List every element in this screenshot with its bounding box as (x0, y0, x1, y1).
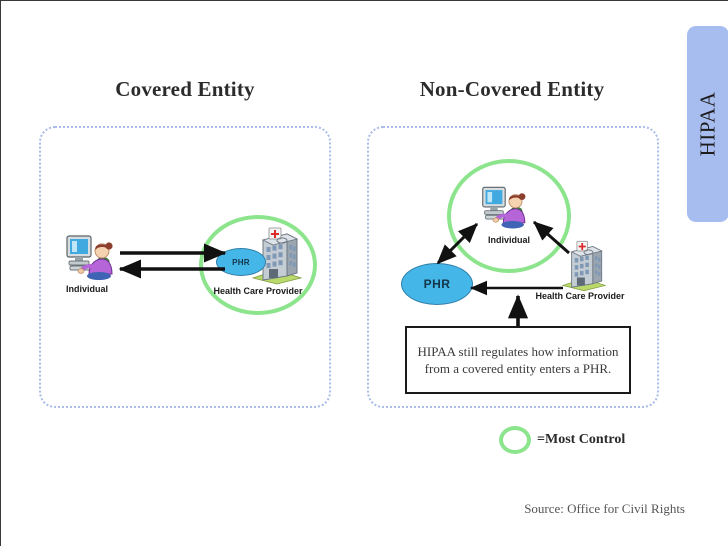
provider-caption-noncovered: Health Care Provider (521, 291, 639, 301)
legend: =Most Control (499, 426, 625, 454)
individual-caption-noncovered: Individual (463, 235, 555, 245)
individual-icon (63, 230, 125, 282)
phr-node-covered: PHR (216, 248, 266, 276)
phr-label: PHR (424, 277, 451, 291)
hipaa-sidebar-bar: HIPAA (687, 26, 728, 222)
non-covered-entity-title: Non-Covered Entity (367, 77, 657, 102)
legend-label: =Most Control (537, 432, 625, 448)
most-control-swatch-icon (499, 426, 531, 454)
covered-entity-title: Covered Entity (43, 77, 327, 102)
phr-label: PHR (232, 258, 250, 267)
individual-icon-noncovered (479, 181, 537, 231)
health-care-provider-icon-noncovered (561, 239, 607, 293)
individual-caption-covered: Individual (42, 284, 132, 294)
source-attribution: Source: Office for Civil Rights (401, 501, 685, 517)
phr-node-noncovered: PHR (401, 263, 473, 305)
hipaa-callout-box: HIPAA still regulates how information fr… (405, 326, 631, 394)
hipaa-sidebar-label: HIPAA (696, 92, 721, 157)
provider-caption-covered: Health Care Provider (199, 286, 317, 296)
hipaa-callout-text: HIPAA still regulates how information fr… (415, 343, 621, 377)
slide-canvas: Covered Entity Non-Covered Entity HIPAA (0, 0, 728, 546)
